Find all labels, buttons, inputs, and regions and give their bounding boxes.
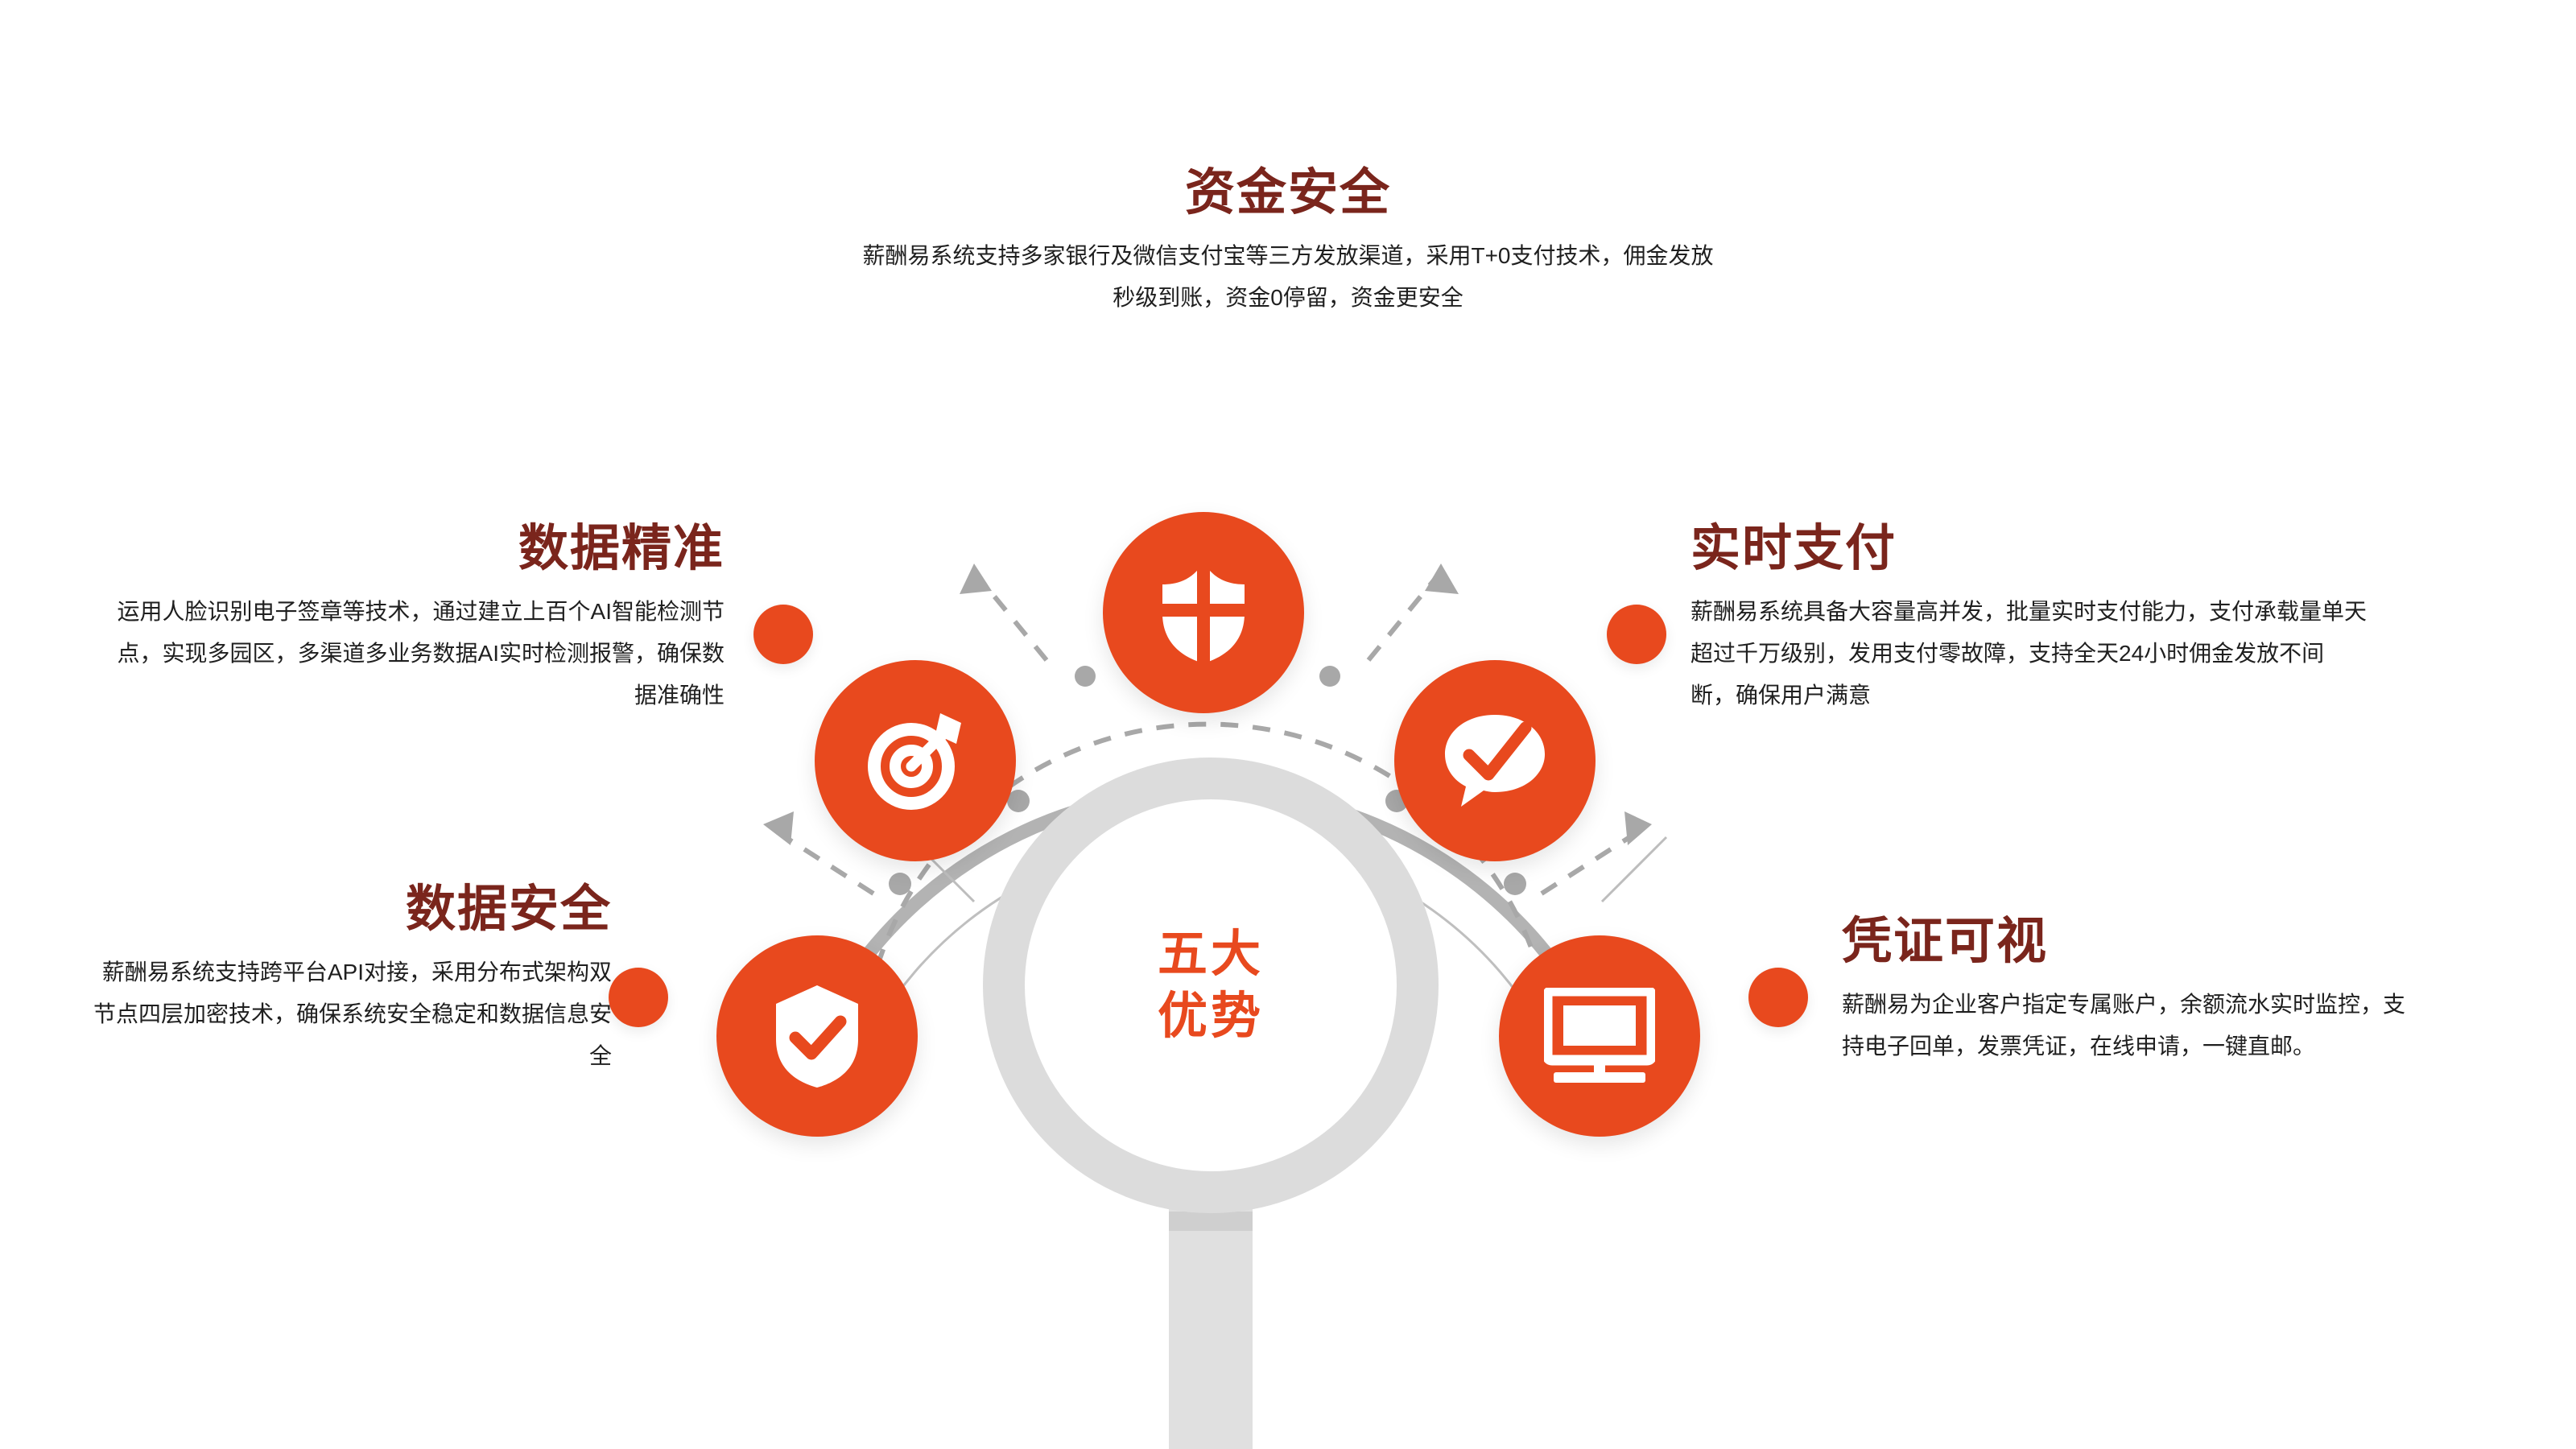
section-body-data-precision: 运用人脸识别电子签章等技术，通过建立上百个AI智能检测节点，实现多园区，多渠道多… <box>113 591 724 716</box>
center-label-line1: 五大 <box>1158 923 1264 986</box>
section-body-funds-security: 薪酬易系统支持多家银行及微信支付宝等三方发放渠道，采用T+0支付技术，佣金发放秒… <box>861 235 1715 319</box>
section-title-data-precision: 数据精准 <box>113 522 724 576</box>
node-funds-security[interactable] <box>1103 512 1304 713</box>
node-realtime-payment[interactable] <box>1394 660 1596 861</box>
section-title-realtime-payment: 实时支付 <box>1690 522 2367 576</box>
connector-dot-realtime-payment <box>1607 605 1666 664</box>
section-data-precision: 数据精准 运用人脸识别电子签章等技术，通过建立上百个AI智能检测节点，实现多园区… <box>113 522 724 716</box>
section-realtime-payment: 实时支付 薪酬易系统具备大容量高并发，批量实时支付能力，支付承载量单天超过千万级… <box>1690 522 2367 716</box>
center-label: 五大 优势 <box>983 758 1439 1213</box>
node-data-precision[interactable] <box>815 660 1016 861</box>
section-data-security: 数据安全 薪酬易系统支持跨平台API对接，采用分布式架构双节点四层加密技术，确保… <box>80 882 612 1077</box>
section-title-data-security: 数据安全 <box>80 882 612 937</box>
section-title-funds-security: 资金安全 <box>861 166 1715 221</box>
section-body-realtime-payment: 薪酬易系统具备大容量高并发，批量实时支付能力，支付承载量单天超过千万级别，发用支… <box>1690 591 2367 716</box>
shield-cross-icon <box>1154 560 1253 665</box>
monitor-icon <box>1544 988 1655 1084</box>
node-data-security[interactable] <box>716 935 918 1137</box>
node-voucher-visible[interactable] <box>1499 935 1700 1137</box>
target-dart-icon <box>863 708 968 813</box>
section-body-voucher-visible: 薪酬易为企业客户指定专属账户，余额流水实时监控，支持电子回单，发票凭证，在线申请… <box>1842 984 2421 1067</box>
section-funds-security: 资金安全 薪酬易系统支持多家银行及微信支付宝等三方发放渠道，采用T+0支付技术，… <box>861 166 1715 319</box>
infographic-canvas: 五大 优势 <box>0 0 2576 1449</box>
chat-check-icon <box>1442 710 1548 811</box>
magnifier-handle-band <box>1169 1212 1253 1231</box>
shield-check-icon <box>768 983 866 1089</box>
section-voucher-visible: 凭证可视 薪酬易为企业客户指定专属账户，余额流水实时监控，支持电子回单，发票凭证… <box>1842 914 2421 1067</box>
connector-dot-voucher-visible <box>1748 968 1808 1027</box>
connector-dot-data-security <box>609 968 668 1027</box>
section-body-data-security: 薪酬易系统支持跨平台API对接，采用分布式架构双节点四层加密技术，确保系统安全稳… <box>80 952 612 1076</box>
connector-dot-data-precision <box>753 605 813 664</box>
section-title-voucher-visible: 凭证可视 <box>1842 914 2421 969</box>
center-label-line2: 优势 <box>1158 985 1264 1048</box>
